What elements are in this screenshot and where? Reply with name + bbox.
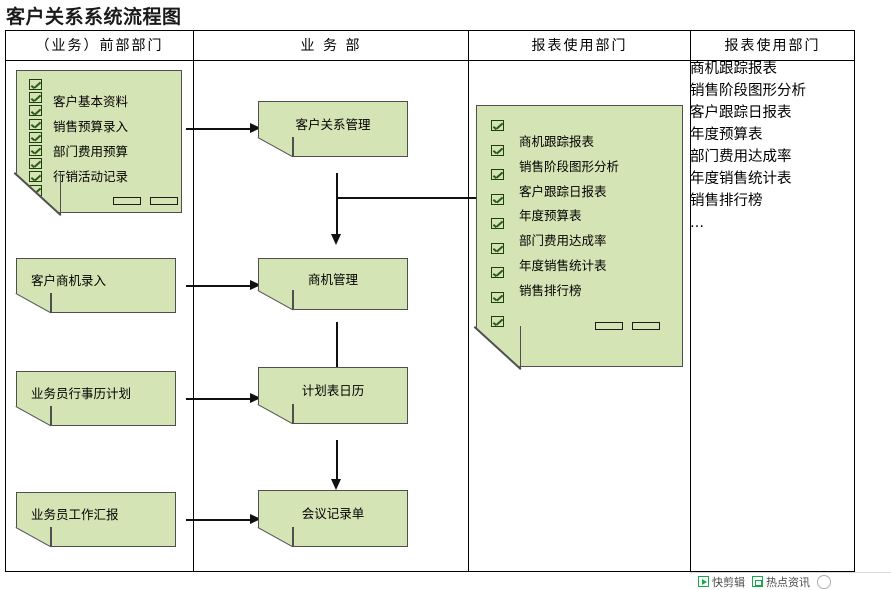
page-fold-icon [16, 406, 52, 426]
toolbar-item-quick-edit[interactable]: 快剪辑 [698, 574, 745, 590]
checklist-item: 客户跟踪日报表 [519, 180, 619, 205]
page-fold-icon [258, 290, 294, 310]
lane-header-business-department: 业 务 部 [194, 31, 468, 61]
doc-button-row[interactable] [113, 197, 178, 205]
page-fold-icon [15, 172, 61, 214]
node-customer-opportunity-entry[interactable]: 客户商机录入 [16, 258, 176, 313]
checkbox-column [491, 120, 504, 341]
bottom-toolbar: 快剪辑 热点资讯 [690, 572, 891, 590]
report-list-item: 商机跟踪报表 [690, 58, 855, 80]
report-list-item: 客户跟踪日报表 [690, 102, 855, 124]
checklist-item: 客户基本资料 [53, 89, 128, 114]
connector-arrow-v1 [331, 234, 341, 245]
doc-button[interactable] [632, 322, 660, 330]
page-fold-icon [16, 527, 52, 547]
node-plan-calendar[interactable]: 计划表日历 [258, 367, 408, 424]
checkbox-checked-icon[interactable] [491, 169, 504, 180]
checkbox-checked-icon[interactable] [29, 119, 42, 130]
checkbox-checked-icon[interactable] [29, 132, 42, 143]
news-icon [752, 576, 763, 587]
checklist-item: 年度预算表 [519, 204, 619, 229]
connector-line-v3 [336, 440, 338, 482]
checklist-item: 销售预算录入 [53, 114, 128, 139]
page-fold-icon [258, 137, 294, 157]
checkbox-checked-icon[interactable] [29, 158, 42, 169]
checkbox-checked-icon[interactable] [29, 92, 42, 103]
toolbar-label: 热点资讯 [766, 574, 810, 590]
page-fold-icon [258, 527, 294, 547]
connector-line-2 [336, 197, 483, 199]
connector-line-4 [186, 398, 252, 400]
checklist-item: 年度销售统计表 [519, 254, 619, 279]
checklist-items: 客户基本资料销售预算录入部门费用预算行销活动记录 [53, 89, 128, 189]
report-name-list: 商机跟踪报表销售阶段图形分析客户跟踪日报表年度预算表部门费用达成率年度销售统计表… [690, 58, 855, 234]
lane-divider-2 [468, 31, 469, 571]
lane-header-report-users-2: 报表使用部门 [691, 31, 854, 61]
connector-line-v2 [336, 322, 338, 370]
toolbar-item-hot-news[interactable]: 热点资讯 [752, 574, 810, 590]
checkbox-checked-icon[interactable] [491, 292, 504, 303]
checkbox-checked-icon[interactable] [491, 194, 504, 205]
doc-button[interactable] [113, 197, 141, 205]
play-icon [698, 576, 709, 587]
checklist-item: 销售阶段图形分析 [519, 155, 619, 180]
lane-header-front-department: （业务）前部部门 [6, 31, 193, 61]
doc-button-row[interactable] [595, 322, 660, 330]
report-list-item: 销售阶段图形分析 [690, 80, 855, 102]
node-salesperson-calendar-plan[interactable]: 业务员行事历计划 [16, 371, 176, 426]
page-title: 客户关系系统流程图 [6, 2, 182, 29]
lane-divider-1 [193, 31, 194, 571]
node-salesperson-work-report[interactable]: 业务员工作汇报 [16, 492, 176, 547]
checklist-item: 商机跟踪报表 [519, 130, 619, 155]
report-list-item: 年度预算表 [690, 124, 855, 146]
connector-line-1 [186, 128, 252, 130]
checkbox-checked-icon[interactable] [29, 145, 42, 156]
report-list-item: 部门费用达成率 [690, 146, 855, 168]
checkbox-checked-icon[interactable] [29, 105, 42, 116]
report-list-ellipsis: … [690, 212, 855, 234]
circle-a-icon [817, 575, 831, 589]
checklist-item: 行销活动记录 [53, 164, 128, 189]
checklist-items: 商机跟踪报表销售阶段图形分析客户跟踪日报表年度预算表部门费用达成率年度销售统计表… [519, 130, 619, 304]
page-fold-icon [475, 326, 521, 368]
report-list-item: 年度销售统计表 [690, 168, 855, 190]
checkbox-checked-icon[interactable] [491, 267, 504, 278]
doc-button[interactable] [595, 322, 623, 330]
checkbox-checked-icon[interactable] [491, 218, 504, 229]
lane-header-report-users-1: 报表使用部门 [469, 31, 690, 61]
page-fold-icon [258, 404, 294, 424]
connector-arrow-v3 [331, 479, 341, 490]
report-checklist-doc[interactable]: 商机跟踪报表销售阶段图形分析客户跟踪日报表年度预算表部门费用达成率年度销售统计表… [476, 105, 683, 367]
doc-button[interactable] [150, 197, 178, 205]
checkbox-checked-icon[interactable] [29, 79, 42, 90]
checklist-item: 销售排行榜 [519, 279, 619, 304]
page-fold-icon [16, 293, 52, 313]
report-list-item: 销售排行榜 [690, 190, 855, 212]
checklist-item: 部门费用预算 [53, 139, 128, 164]
toolbar-label: 快剪辑 [712, 574, 745, 590]
front-department-checklist-doc[interactable]: 客户基本资料销售预算录入部门费用预算行销活动记录 [16, 70, 182, 213]
checkbox-checked-icon[interactable] [491, 120, 504, 131]
checklist-item: 部门费用达成率 [519, 229, 619, 254]
connector-line-5 [186, 519, 252, 521]
connector-line-3 [186, 285, 252, 287]
node-crm-management[interactable]: 客户关系管理 [258, 101, 408, 157]
node-opportunity-management[interactable]: 商机管理 [258, 258, 408, 310]
checkbox-checked-icon[interactable] [491, 243, 504, 254]
checkbox-checked-icon[interactable] [491, 145, 504, 156]
toolbar-item-circle[interactable] [817, 575, 831, 589]
node-meeting-record[interactable]: 会议记录单 [258, 490, 408, 547]
connector-line-v1 [336, 173, 338, 236]
